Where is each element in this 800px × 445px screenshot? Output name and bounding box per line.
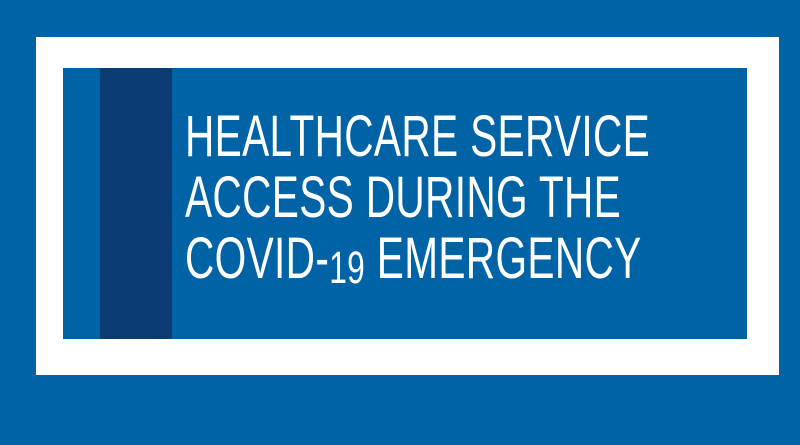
title-line-1: HEALTHCARE SERVICE bbox=[185, 106, 567, 167]
navy-accent-stripe bbox=[100, 68, 172, 339]
title-slide: HEALTHCARE SERVICE ACCESS DURING THE COV… bbox=[0, 0, 800, 445]
title-line-3-number: 19 bbox=[329, 242, 365, 293]
title-line-3-prefix: COVID- bbox=[185, 226, 329, 291]
title-line-2: ACCESS DURING THE bbox=[185, 167, 567, 228]
title-text-block: HEALTHCARE SERVICE ACCESS DURING THE COV… bbox=[185, 106, 730, 293]
title-line-3-suffix: EMERGENCY bbox=[365, 226, 641, 291]
title-panel: HEALTHCARE SERVICE ACCESS DURING THE COV… bbox=[63, 68, 747, 339]
title-line-3: COVID-19 EMERGENCY bbox=[185, 228, 567, 293]
